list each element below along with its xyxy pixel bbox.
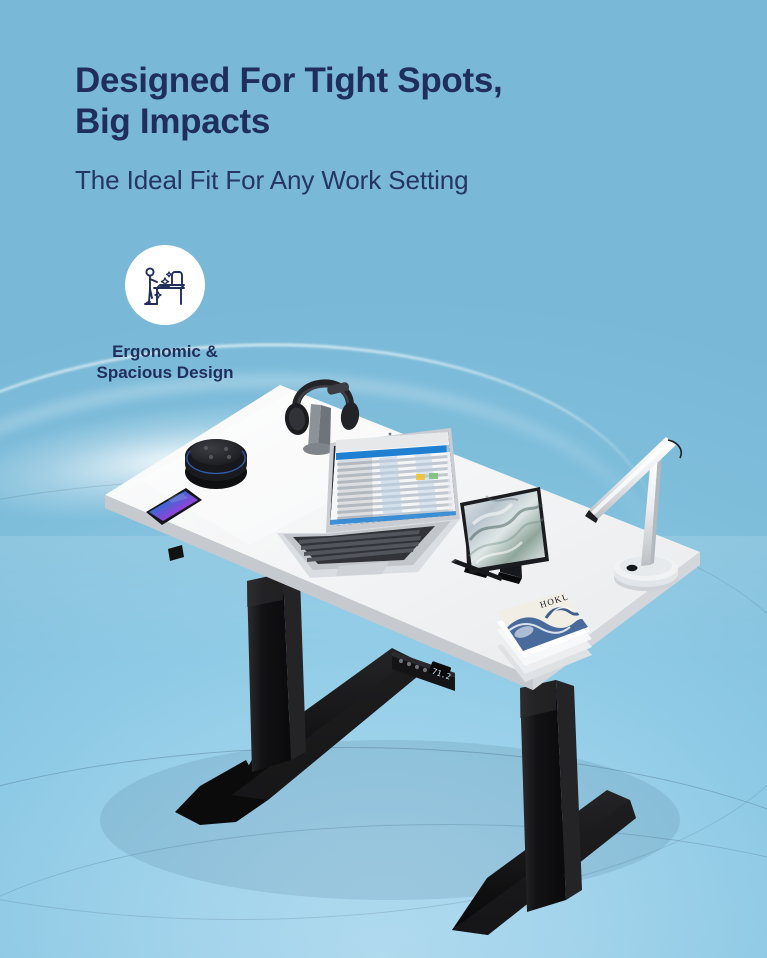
feature-badge-label: Ergonomic & Spacious Design xyxy=(75,341,255,384)
page-title: Designed For Tight Spots, Big Impacts xyxy=(75,60,695,143)
feature-badge: Ergonomic & Spacious Design xyxy=(75,245,255,384)
headline-line-1: Designed For Tight Spots, xyxy=(75,61,502,100)
lamp-power-button xyxy=(627,565,638,571)
standing-desk-person-icon xyxy=(138,258,192,312)
feature-badge-circle xyxy=(125,245,205,325)
cable-clip xyxy=(168,545,184,561)
page-subtitle: The Ideal Fit For Any Work Setting xyxy=(75,165,695,196)
smart-speaker xyxy=(185,439,247,489)
headline-line-2: Big Impacts xyxy=(75,101,695,142)
hero-copy: Designed For Tight Spots, Big Impacts Th… xyxy=(75,60,695,196)
